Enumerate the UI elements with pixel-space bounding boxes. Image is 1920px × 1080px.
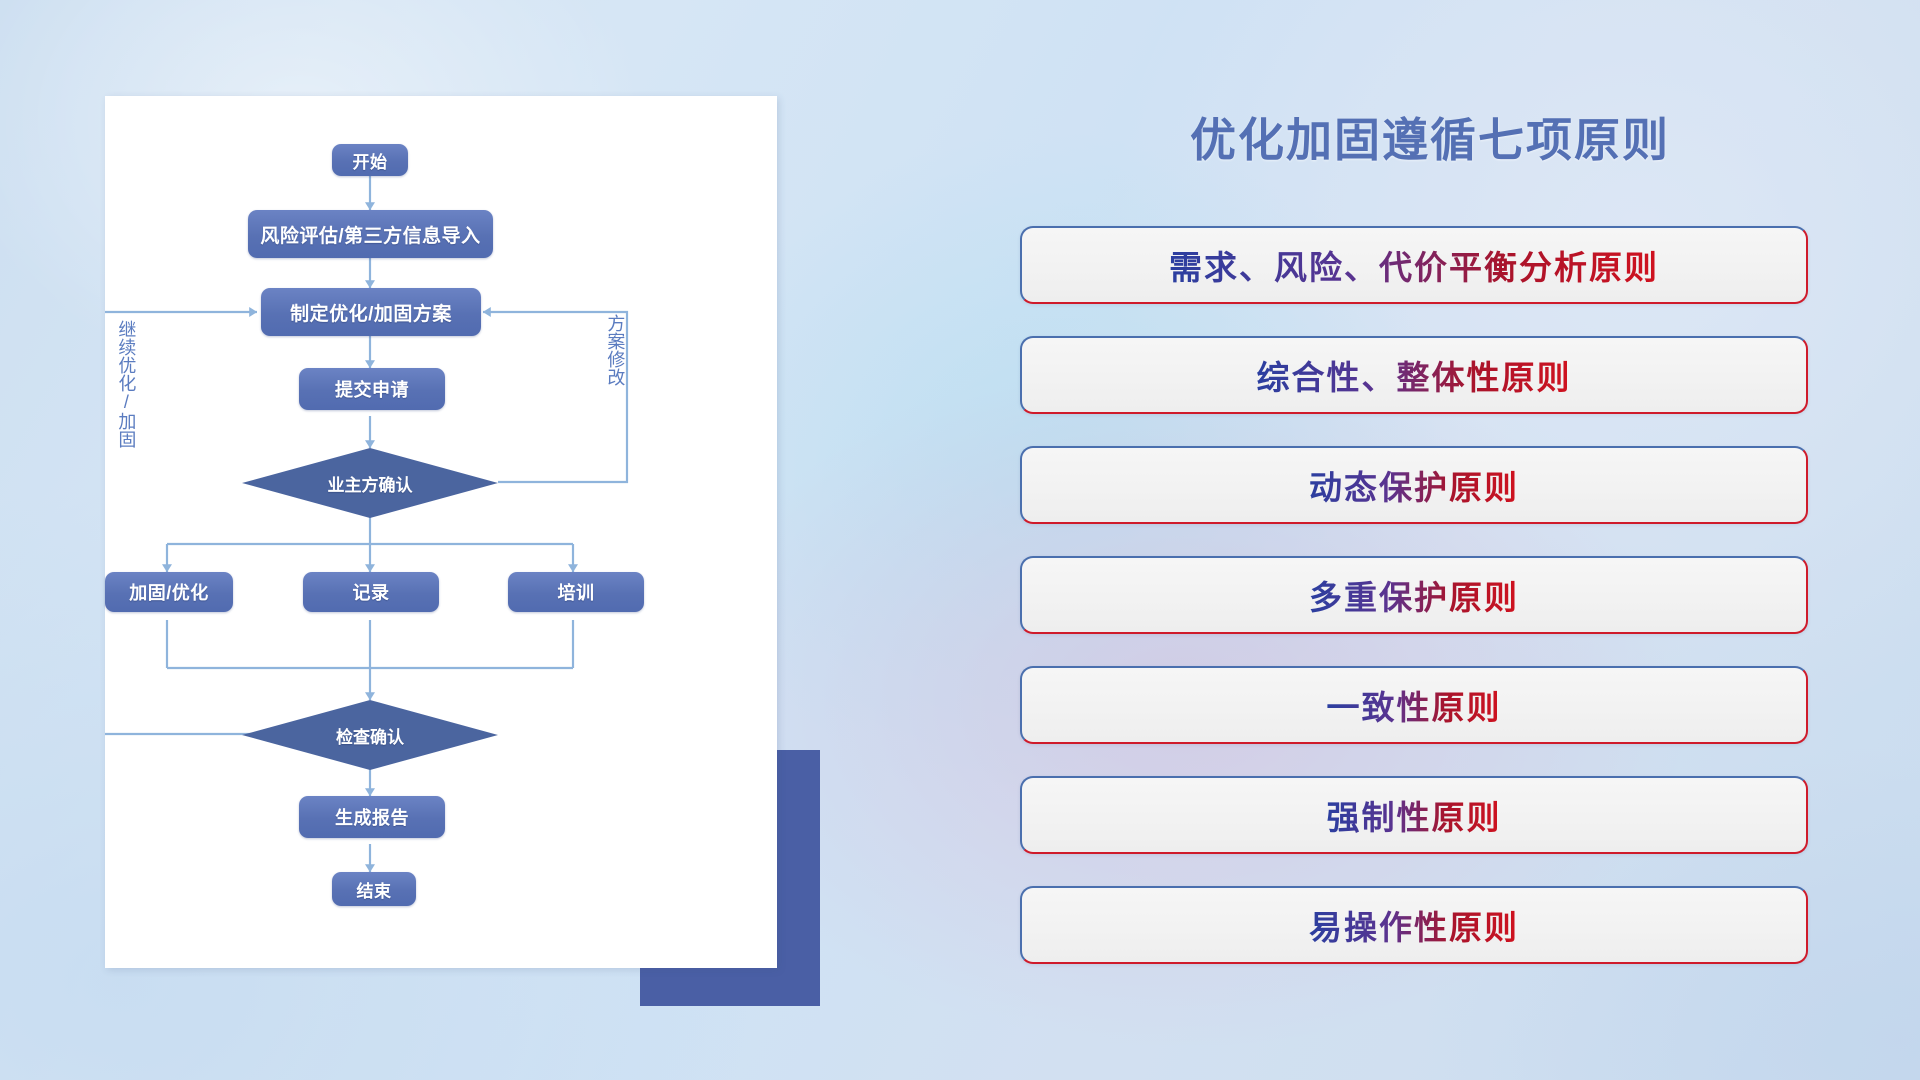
flow-node-plan-label: 制定优化/加固方案 [290,299,452,326]
page-title: 优化加固遵循七项原则 [1020,104,1840,170]
flow-node-end-label: 结束 [357,877,392,902]
flow-node-generate-report[interactable]: 生成报告 [299,796,445,838]
flow-node-reinforce[interactable]: 加固/优化 [105,572,233,612]
principle-label: 多重保护原则 [1309,571,1519,619]
principle-card-6[interactable]: 强制性原则 [1020,776,1808,854]
flowchart-canvas: 开始 风险评估/第三方信息导入 制定优化/加固方案 提交申请 业主方确认 加固/… [105,96,777,968]
flow-decision-owner-confirm-label: 业主方确认 [328,471,413,496]
flow-edge-label-right-loop: 方案修改 [606,314,624,424]
flow-node-risk-assessment[interactable]: 风险评估/第三方信息导入 [248,210,493,258]
principle-card-7[interactable]: 易操作性原则 [1020,886,1808,964]
flow-node-reinforce-label: 加固/优化 [129,579,209,605]
flow-node-end[interactable]: 结束 [332,872,416,906]
principle-label: 动态保护原则 [1309,461,1519,509]
flow-decision-inspect-confirm-label: 检查确认 [336,723,404,748]
flow-edge-label-right-loop-text: 方案修改 [605,314,625,386]
flow-edge-label-left-loop-text: 继续优化/加固 [116,320,136,448]
flow-node-start[interactable]: 开始 [332,144,408,176]
principle-card-2[interactable]: 综合性、整体性原则 [1020,336,1808,414]
flow-edge-label-left-loop: 继续优化/加固 [117,320,135,470]
flow-node-training-label: 培训 [558,579,595,605]
principle-label: 易操作性原则 [1309,901,1519,949]
flow-node-record-label: 记录 [353,579,390,605]
principles-list: 需求、风险、代价平衡分析原则 综合性、整体性原则 动态保护原则 多重保护原则 一… [1020,226,1840,964]
principle-card-1[interactable]: 需求、风险、代价平衡分析原则 [1020,226,1808,304]
flow-node-submit[interactable]: 提交申请 [299,368,445,410]
principle-label: 一致性原则 [1327,681,1502,729]
flow-node-risk-assessment-label: 风险评估/第三方信息导入 [260,221,480,248]
principle-card-3[interactable]: 动态保护原则 [1020,446,1808,524]
flow-node-plan[interactable]: 制定优化/加固方案 [261,288,481,336]
flow-node-record[interactable]: 记录 [303,572,439,612]
flow-node-generate-report-label: 生成报告 [335,804,409,830]
flowchart-panel: 开始 风险评估/第三方信息导入 制定优化/加固方案 提交申请 业主方确认 加固/… [105,96,777,968]
principles-column: 优化加固遵循七项原则 需求、风险、代价平衡分析原则 综合性、整体性原则 动态保护… [1020,96,1840,1026]
principle-label: 综合性、整体性原则 [1257,351,1572,399]
principle-card-5[interactable]: 一致性原则 [1020,666,1808,744]
principle-label: 需求、风险、代价平衡分析原则 [1169,241,1659,289]
flow-node-start-label: 开始 [353,148,388,173]
flow-node-submit-label: 提交申请 [335,376,409,402]
principle-card-4[interactable]: 多重保护原则 [1020,556,1808,634]
principle-label: 强制性原则 [1327,791,1502,839]
flow-node-training[interactable]: 培训 [508,572,644,612]
